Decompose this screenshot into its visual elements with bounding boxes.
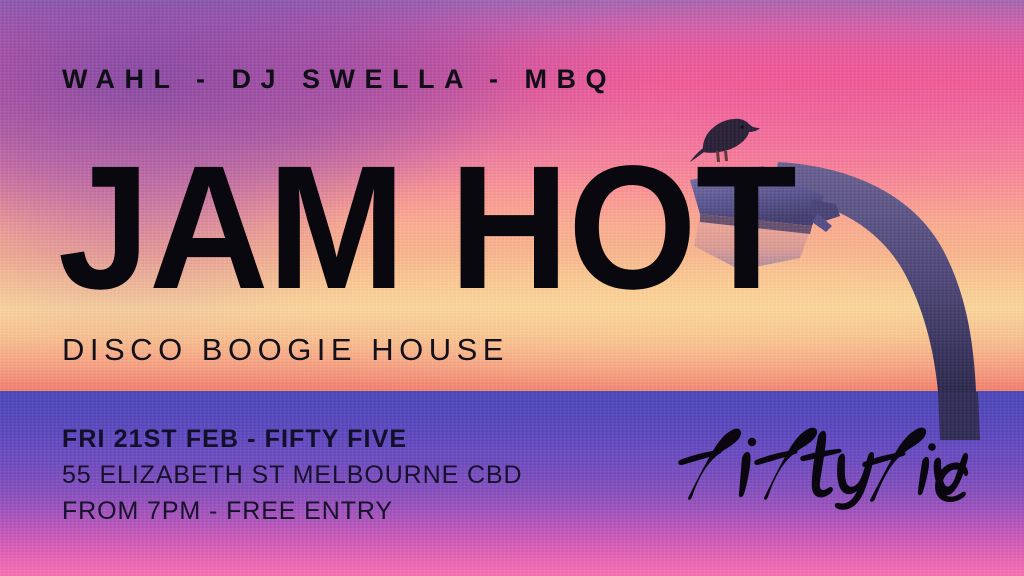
genres-line: DISCO BOOGIE HOUSE [62,332,509,368]
page-title: JAM HOT [58,140,796,316]
event-details: FRI 21ST FEB - FIFTY FIVE 55 ELIZABETH S… [62,422,522,529]
venue-logo [672,412,972,512]
event-date-venue: FRI 21ST FEB - FIFTY FIVE [62,422,522,457]
event-address: 55 ELIZABETH ST MELBOURNE CBD [62,457,522,493]
fiftyfive-wordmark [678,428,968,510]
artists-lineup: WAHL - DJ SWELLA - MBQ [62,64,616,95]
event-entry-info: FROM 7PM - FREE ENTRY [62,493,522,529]
event-poster: WAHL - DJ SWELLA - MBQ JAM HOT DISCO BOO… [0,0,1024,576]
